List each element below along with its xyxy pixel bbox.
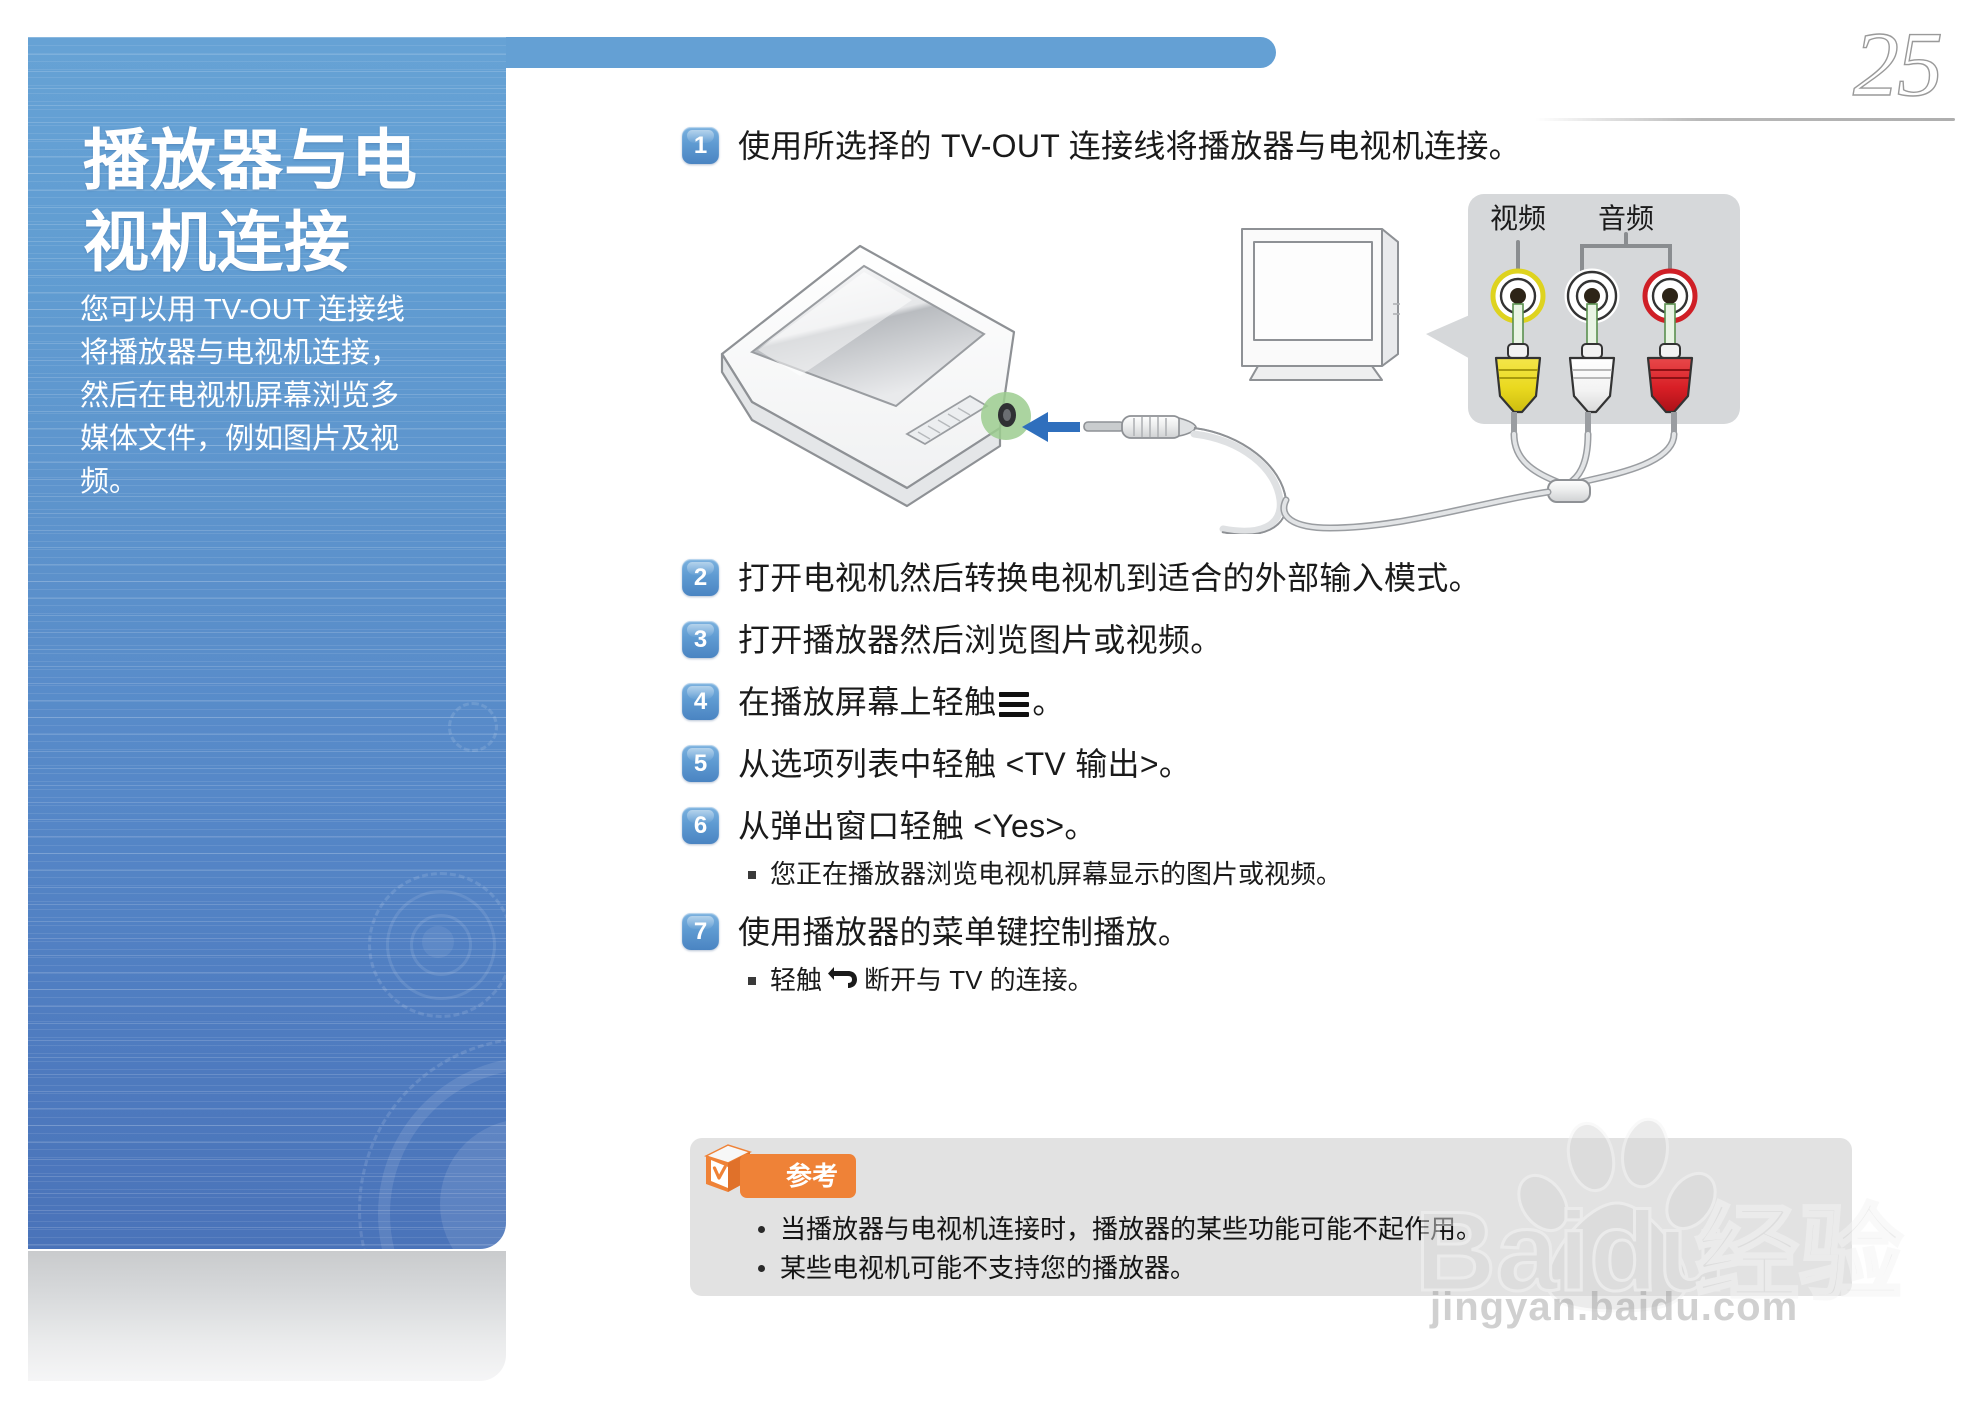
bullet-square-icon — [748, 871, 756, 879]
illustration-svg: 视频 音频 — [682, 184, 1932, 534]
step-3: 3 打开播放器然后浏览图片或视频。 — [682, 614, 1932, 666]
cable-splitter — [1548, 480, 1590, 502]
step-number-badge: 7 — [682, 913, 719, 950]
deco-circle-ring-1 — [368, 872, 506, 1018]
note-item-text: 当播放器与电视机连接时，播放器的某些功能可能不起作用。 — [780, 1210, 1482, 1249]
step-6: 6 从弹出窗口轻触 <Yes>。 — [682, 800, 1932, 852]
step-text: 在播放屏幕上轻触。 — [738, 676, 1065, 728]
label-audio: 音频 — [1598, 203, 1654, 234]
chapter-description: 您可以用 TV-OUT 连接线将播放器与电视机连接，然后在电视机屏幕浏览多媒体文… — [80, 289, 410, 504]
note-list: 当播放器与电视机连接时，播放器的某些功能可能不起作用。 某些电视机可能不支持您的… — [758, 1210, 1808, 1288]
back-arrow-icon — [828, 958, 858, 980]
step-text: 使用播放器的菜单键控制播放。 — [738, 906, 1190, 958]
step-number-badge: 3 — [682, 621, 719, 658]
step-1: 1 使用所选择的 TV-OUT 连接线将播放器与电视机连接。 — [682, 120, 1932, 172]
substep-text-after: 断开与 TV 的连接。 — [864, 958, 1094, 1002]
page-number: 25 — [1853, 18, 1941, 110]
connection-illustration: 视频 音频 — [682, 184, 1932, 534]
note-label: 参考 — [740, 1154, 856, 1198]
chapter-sidebar: 播放器与电 视机连接 您可以用 TV-OUT 连接线将播放器与电视机连接，然后在… — [28, 37, 506, 1249]
substep-text: 您正在播放器浏览电视机屏幕显示的图片或视频。 — [770, 852, 1342, 896]
deco-circle-ring-3 — [410, 914, 472, 976]
step-text-before: 在播放屏幕上轻触 — [738, 684, 996, 720]
step-number-badge: 2 — [682, 559, 719, 596]
bullet-dot-icon — [758, 1226, 765, 1233]
deco-circle-big-fill — [440, 1119, 506, 1249]
deco-circle-small-1 — [448, 702, 498, 752]
step-text-after: 。 — [1032, 684, 1064, 720]
step-text: 打开播放器然后浏览图片或视频。 — [738, 614, 1223, 666]
deco-circle-big-dash — [358, 1037, 506, 1249]
deco-circle-fill-1 — [422, 926, 454, 958]
deco-circle-big-ring — [378, 1057, 506, 1249]
bullet-dot-icon — [758, 1265, 765, 1272]
bullet-square-icon — [748, 977, 756, 985]
step-number-badge: 5 — [682, 745, 719, 782]
step-text: 使用所选择的 TV-OUT 连接线将播放器与电视机连接。 — [738, 120, 1521, 172]
step-text: 从选项列表中轻触 <TV 输出>。 — [738, 738, 1191, 790]
step-7: 7 使用播放器的菜单键控制播放。 — [682, 906, 1932, 958]
step-5: 5 从选项列表中轻触 <TV 输出>。 — [682, 738, 1932, 790]
step-number-badge: 6 — [682, 807, 719, 844]
deco-circle-ring-2 — [386, 890, 496, 1000]
step-text: 打开电视机然后转换电视机到适合的外部输入模式。 — [738, 552, 1481, 604]
label-video: 视频 — [1490, 203, 1546, 234]
step-number-badge: 4 — [682, 683, 719, 720]
substep-text-before: 轻触 — [770, 958, 822, 1002]
chapter-title: 播放器与电 视机连接 — [83, 119, 483, 283]
note-item-text: 某些电视机可能不支持您的播放器。 — [780, 1249, 1196, 1288]
note-item: 当播放器与电视机连接时，播放器的某些功能可能不起作用。 — [758, 1210, 1808, 1249]
step-6-substep: 您正在播放器浏览电视机屏幕显示的图片或视频。 — [748, 852, 1932, 896]
tv-set — [1242, 229, 1398, 380]
step-text: 从弹出窗口轻触 <Yes>。 — [738, 800, 1097, 852]
step-number-badge: 1 — [682, 127, 719, 164]
menu-icon — [999, 692, 1029, 716]
main-content: 1 使用所选择的 TV-OUT 连接线将播放器与电视机连接。 — [682, 120, 1932, 1002]
step-7-substep: 轻触 断开与 TV 的连接。 — [748, 958, 1932, 1002]
note-item: 某些电视机可能不支持您的播放器。 — [758, 1249, 1808, 1288]
jack-plug — [1084, 416, 1196, 438]
sidebar-reflection — [28, 1251, 506, 1381]
step-4: 4 在播放屏幕上轻触。 — [682, 676, 1932, 728]
step-2: 2 打开电视机然后转换电视机到适合的外部输入模式。 — [682, 552, 1932, 604]
note-box: 参考 当播放器与电视机连接时，播放器的某些功能可能不起作用。 某些电视机可能不支… — [690, 1138, 1852, 1296]
callout-tail — [1426, 314, 1472, 360]
